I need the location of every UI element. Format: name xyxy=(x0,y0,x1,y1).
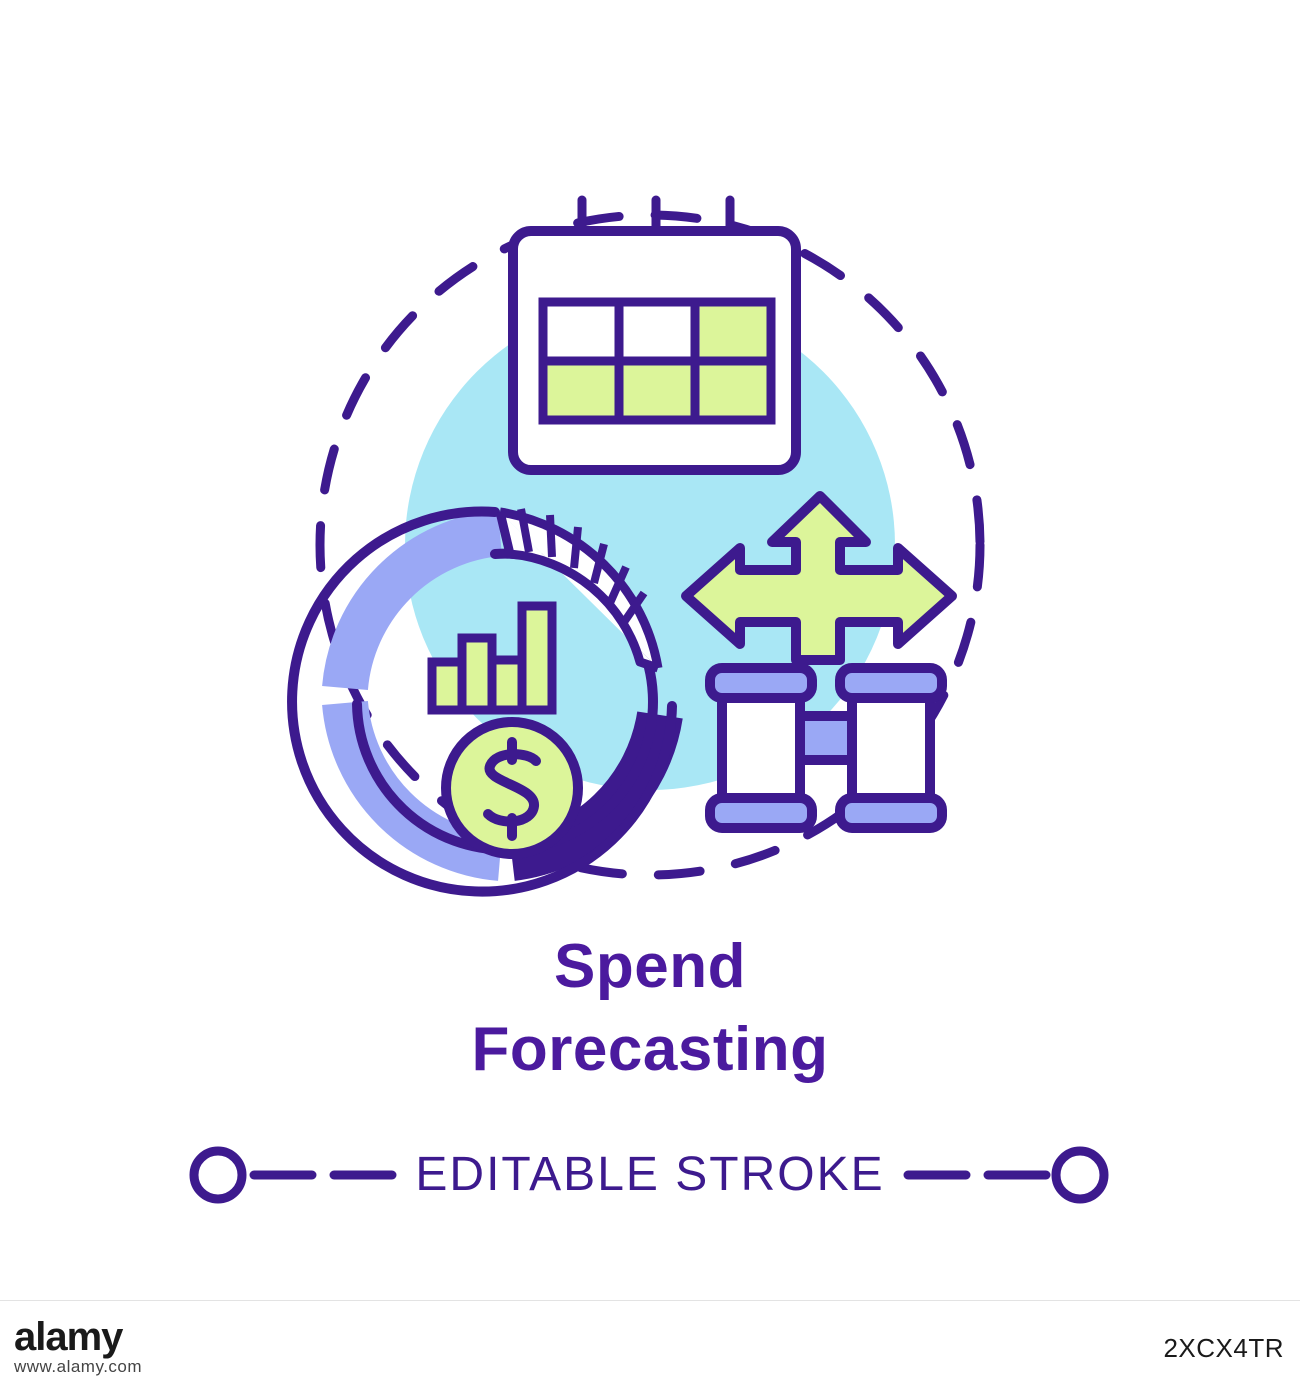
alamy-logo: alamy xyxy=(14,1315,122,1360)
editable-stroke-badge: EDITABLE STROKE xyxy=(0,1130,1300,1220)
calendar-icon xyxy=(513,200,796,470)
alamy-url: www.alamy.com xyxy=(14,1357,142,1377)
concept-title: Spend Forecasting xyxy=(0,925,1300,1091)
image-reference-code: 2XCX4TR xyxy=(1163,1333,1284,1364)
title-line-1: Spend xyxy=(0,925,1300,1008)
illustration-stage: Spend Forecasting EDITABLE STROKE xyxy=(0,0,1300,1300)
concept-illustration xyxy=(0,0,1300,1300)
title-line-2: Forecasting xyxy=(0,1008,1300,1091)
stock-footer: alamy www.alamy.com 2XCX4TR xyxy=(0,1300,1300,1391)
concept-illustration-svg xyxy=(0,0,1300,1300)
badge-label: EDITABLE STROKE xyxy=(0,1130,1300,1220)
